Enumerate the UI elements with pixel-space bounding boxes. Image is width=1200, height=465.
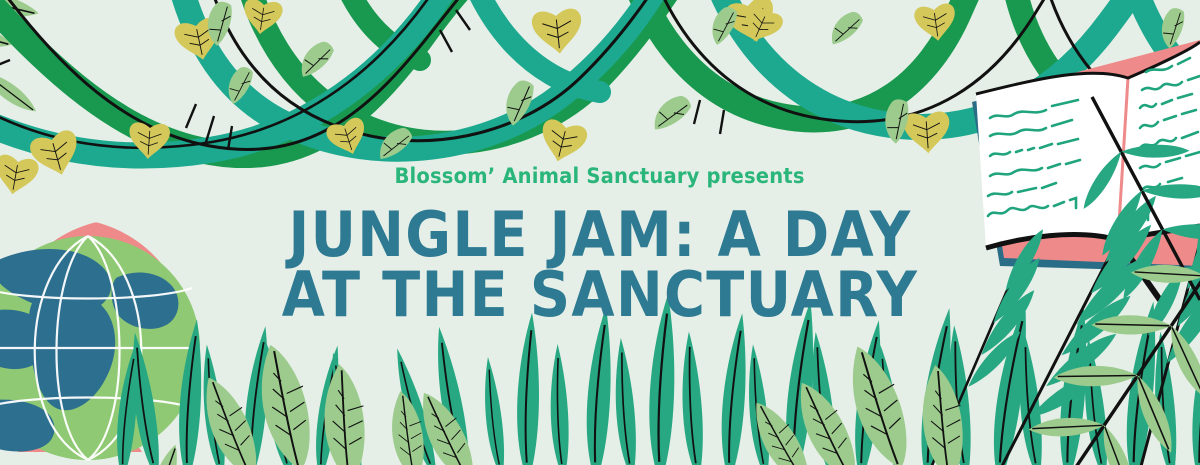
jungle-jam-banner: Blossom’ Animal Sanctuary presents JUNGL… bbox=[0, 0, 1200, 465]
decorative-artwork bbox=[0, 0, 1200, 465]
